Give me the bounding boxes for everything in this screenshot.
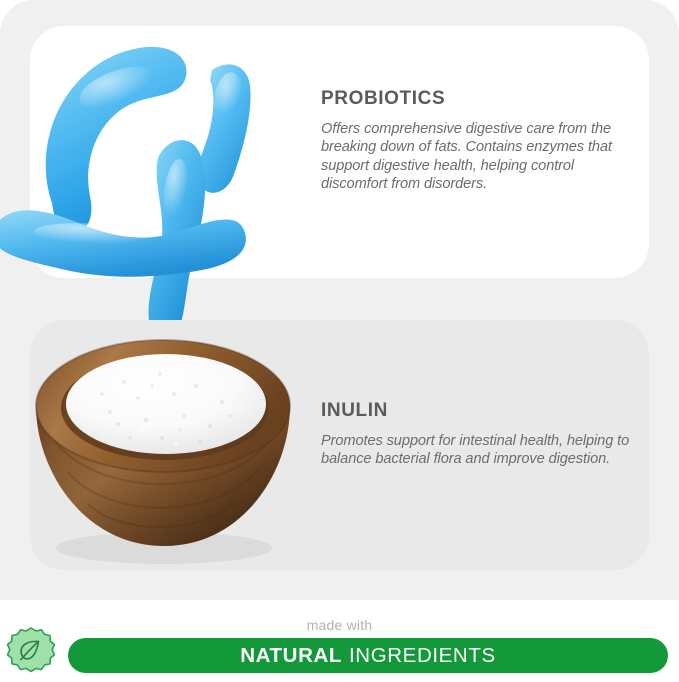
natural-label: NATURAL: [240, 644, 342, 668]
inulin-text-block: INULIN Promotes support for intestinal h…: [321, 400, 633, 469]
inulin-title: INULIN: [321, 400, 633, 422]
natural-ingredients-banner: NATURAL INGREDIENTS: [68, 638, 668, 673]
probiotics-title: PROBIOTICS: [321, 88, 613, 110]
ingredients-label: INGREDIENTS: [349, 644, 496, 668]
inulin-description: Promotes support for intestinal health, …: [321, 432, 633, 469]
probiotics-description: Offers comprehensive digestive care from…: [321, 120, 613, 194]
product-ingredient-infographic: PROBIOTICS Offers comprehensive digestiv…: [0, 0, 679, 682]
made-with-label: made with: [0, 617, 679, 633]
leaf-seal-icon: [4, 625, 58, 679]
probiotics-text-block: PROBIOTICS Offers comprehensive digestiv…: [321, 88, 613, 194]
